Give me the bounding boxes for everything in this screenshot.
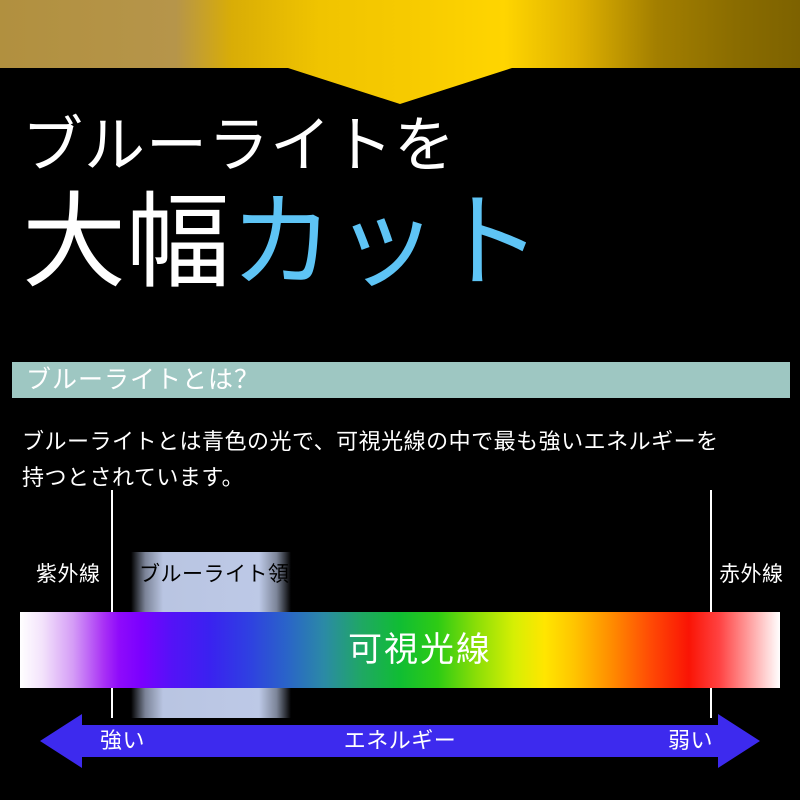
- headline-line-2: 大幅カット: [22, 186, 782, 302]
- light-spectrum-diagram: 紫外線 ブルーライト領域 赤外線 可視光線: [0, 490, 800, 720]
- label-ultraviolet: 紫外線: [36, 563, 101, 587]
- advertisement-page: ブルーライトを 大幅カット ブルーライトとは？ ブルーライトとは青色の光で、可視…: [0, 0, 800, 800]
- body-copy: ブルーライトとは青色の光で、可視光線の中で最も強いエネルギーを 持つとされていま…: [22, 424, 778, 496]
- gold-chevron-banner: [0, 0, 800, 104]
- label-energy-weak: 弱い: [668, 728, 713, 754]
- headline-emphasis-white: 大幅: [22, 186, 230, 301]
- subheading-text: ブルーライトとは？: [12, 365, 260, 395]
- headline-line-1: ブルーライトを: [22, 110, 782, 184]
- label-visible-light: 可視光線: [20, 630, 800, 670]
- subheading-band: ブルーライトとは？: [12, 362, 790, 398]
- headline-block: ブルーライトを 大幅カット: [22, 110, 782, 302]
- body-copy-line-1: ブルーライトとは青色の光で、可視光線の中で最も強いエネルギーを: [22, 424, 778, 460]
- energy-arrow-block: 強い エネルギー 弱い: [0, 706, 800, 776]
- headline-emphasis-blue: カット: [230, 186, 542, 301]
- label-infrared: 赤外線: [719, 563, 784, 587]
- label-bluelight-region: ブルーライト領域: [139, 563, 311, 587]
